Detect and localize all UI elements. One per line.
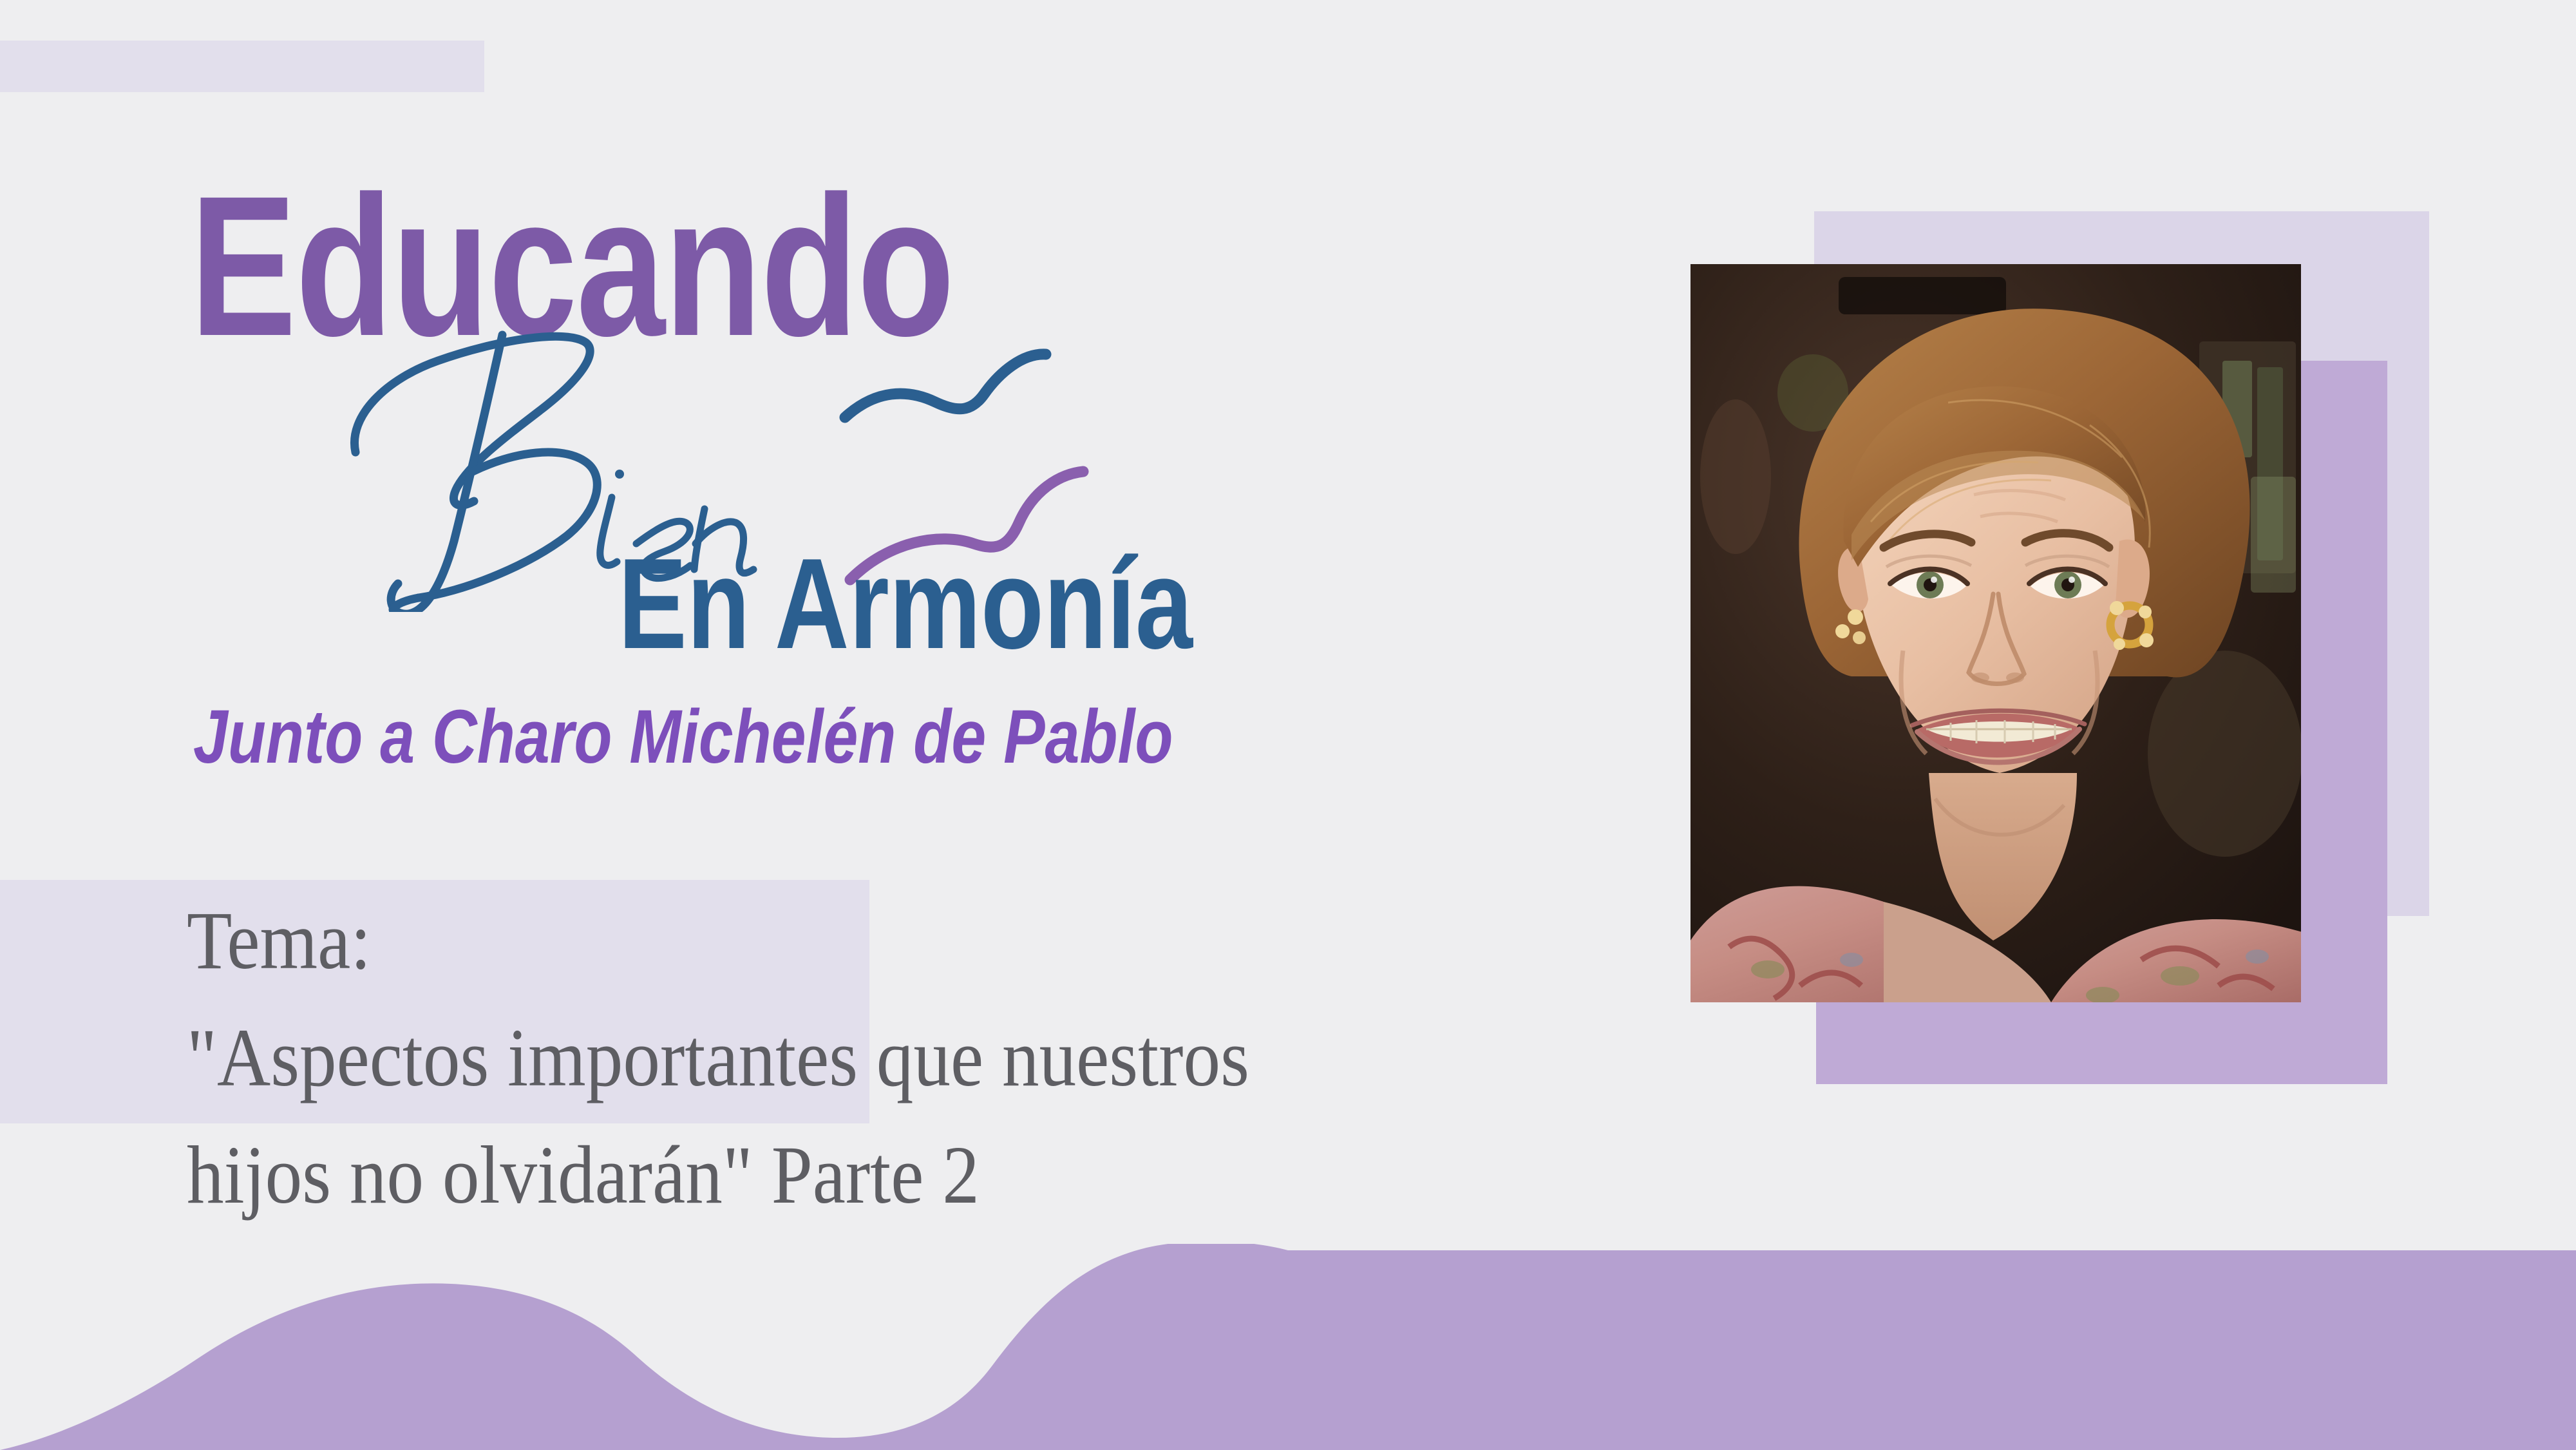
- avatar: [1690, 264, 2301, 1002]
- subtitle-en-armonia: En Armonía: [618, 540, 1193, 669]
- topic-line-1: "Aspectos importantes que nuestros: [187, 1000, 1249, 1117]
- host-line: Junto a Charo Michelén de Pablo: [193, 699, 1173, 775]
- topic-block: Tema: "Aspectos importantes que nuestros…: [187, 882, 1249, 1234]
- top-left-lavender-bar: [0, 41, 484, 92]
- topic-label: Tema:: [187, 882, 1249, 1000]
- slide-canvas: Educando: [0, 0, 2576, 1450]
- bottom-purple-wave: [0, 1244, 2576, 1450]
- topic-line-2: hijos no olvidarán" Parte 2: [187, 1117, 1249, 1234]
- portrait-image: [1690, 264, 2301, 1002]
- blue-bird-swash: [845, 354, 1046, 417]
